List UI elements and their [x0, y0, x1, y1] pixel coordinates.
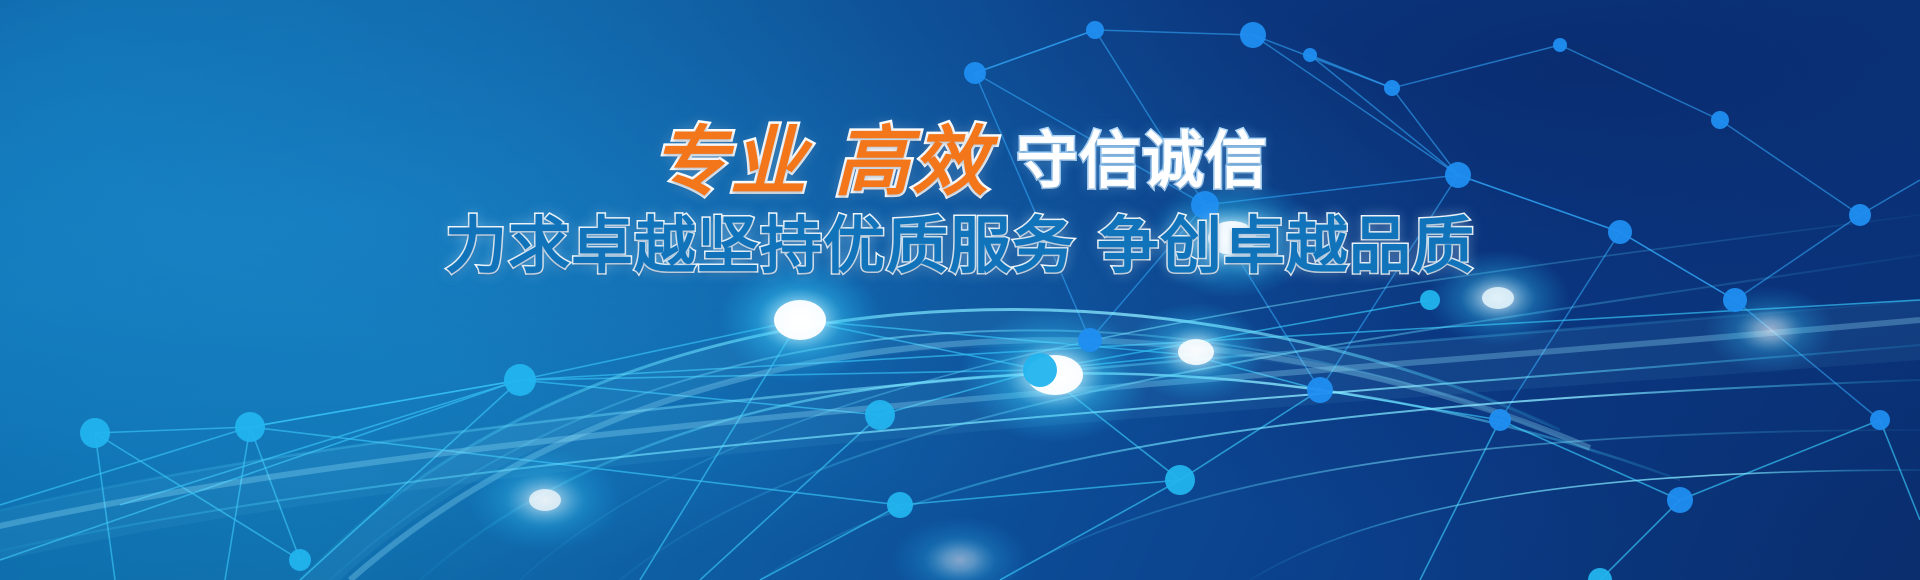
orbit-sheen: [0, 300, 1920, 580]
tagline-block: 专业高效守信诚信 力求卓越坚持优质服务争创卓越品质: [0, 124, 1920, 278]
network-edges-layer: [0, 0, 1920, 580]
tagline-segment-1: 力求卓越坚持优质服务: [445, 212, 1075, 281]
background-shading: [0, 0, 1920, 580]
network-edge: [0, 300, 1920, 580]
tagline-accent-2: 高效: [834, 117, 990, 206]
tagline-line-2: 力求卓越坚持优质服务争创卓越品质: [0, 216, 1920, 278]
node-glow-layer: [0, 0, 1920, 580]
network-nodes-layer: [0, 0, 1920, 580]
tagline-line-1: 专业高效守信诚信: [0, 124, 1920, 200]
tagline-segment-2: 争创卓越品质: [1097, 212, 1475, 281]
globe-orbit-arcs: [0, 0, 1920, 580]
tagline-accent-1: 专业: [652, 117, 808, 206]
network-node: [80, 290, 1612, 580]
tagline-plain-1: 守信诚信: [1016, 127, 1268, 196]
hero-banner: 专业高效守信诚信 力求卓越坚持优质服务争创卓越品质: [0, 0, 1920, 580]
orbit-arc-faint: [0, 320, 1920, 580]
